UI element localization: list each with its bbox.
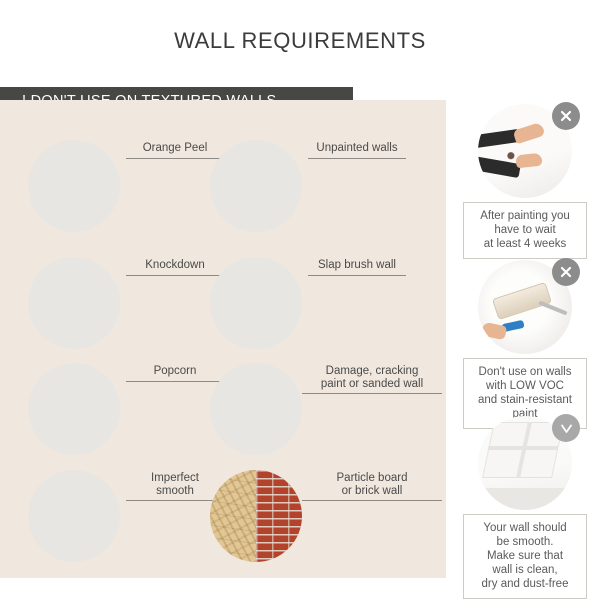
card-photo xyxy=(470,258,580,358)
brick-wall-half xyxy=(256,470,302,562)
swatch-unpainted-walls[interactable]: Unpainted walls xyxy=(210,140,406,250)
swatch-damage-cracking[interactable]: Damage, cracking paint or sanded wall xyxy=(210,363,406,473)
texture-image-imperfect-smooth xyxy=(28,470,120,562)
swatch-imperfect-smooth[interactable]: Imperfect smooth xyxy=(28,470,224,580)
swatch-slap-brush-wall[interactable]: Slap brush wall xyxy=(210,257,406,367)
swatch-label: Particle board or brick wall xyxy=(302,472,442,501)
swatch-popcorn[interactable]: Popcorn xyxy=(28,363,224,473)
swatch-label: Damage, cracking paint or sanded wall xyxy=(302,365,442,394)
page-title: WALL REQUIREMENTS xyxy=(0,28,600,54)
card-photo xyxy=(470,102,580,202)
card-photo xyxy=(470,414,580,514)
texture-image-unpainted-walls xyxy=(210,140,302,232)
texture-swatch-grid: Orange Peel Unpainted walls Knockdown Sl… xyxy=(0,100,446,578)
particle-board-half xyxy=(210,470,256,562)
cross-icon xyxy=(552,102,580,130)
requirement-card-wait-4-weeks[interactable]: After painting you have to wait at least… xyxy=(455,102,595,259)
texture-image-orange-peel xyxy=(28,140,120,232)
requirement-card-smooth-wall[interactable]: Your wall should be smooth. Make sure th… xyxy=(455,414,595,599)
texture-image-knockdown xyxy=(28,257,120,349)
swatch-label: Unpainted walls xyxy=(308,142,406,159)
card-caption: After painting you have to wait at least… xyxy=(463,202,587,259)
texture-image-particle-board-brick xyxy=(210,470,302,562)
check-icon xyxy=(552,414,580,442)
swatch-knockdown[interactable]: Knockdown xyxy=(28,257,224,367)
swatch-label: Slap brush wall xyxy=(308,259,406,276)
card-caption: Your wall should be smooth. Make sure th… xyxy=(463,514,587,599)
swatch-particle-board-brick[interactable]: Particle board or brick wall xyxy=(210,470,406,580)
texture-image-popcorn xyxy=(28,363,120,455)
texture-image-slap-brush-wall xyxy=(210,257,302,349)
cross-icon xyxy=(552,258,580,286)
texture-image-damage-cracking xyxy=(210,363,302,455)
swatch-orange-peel[interactable]: Orange Peel xyxy=(28,140,224,250)
requirement-card-low-voc[interactable]: Don't use on walls with LOW VOC and stai… xyxy=(455,258,595,429)
